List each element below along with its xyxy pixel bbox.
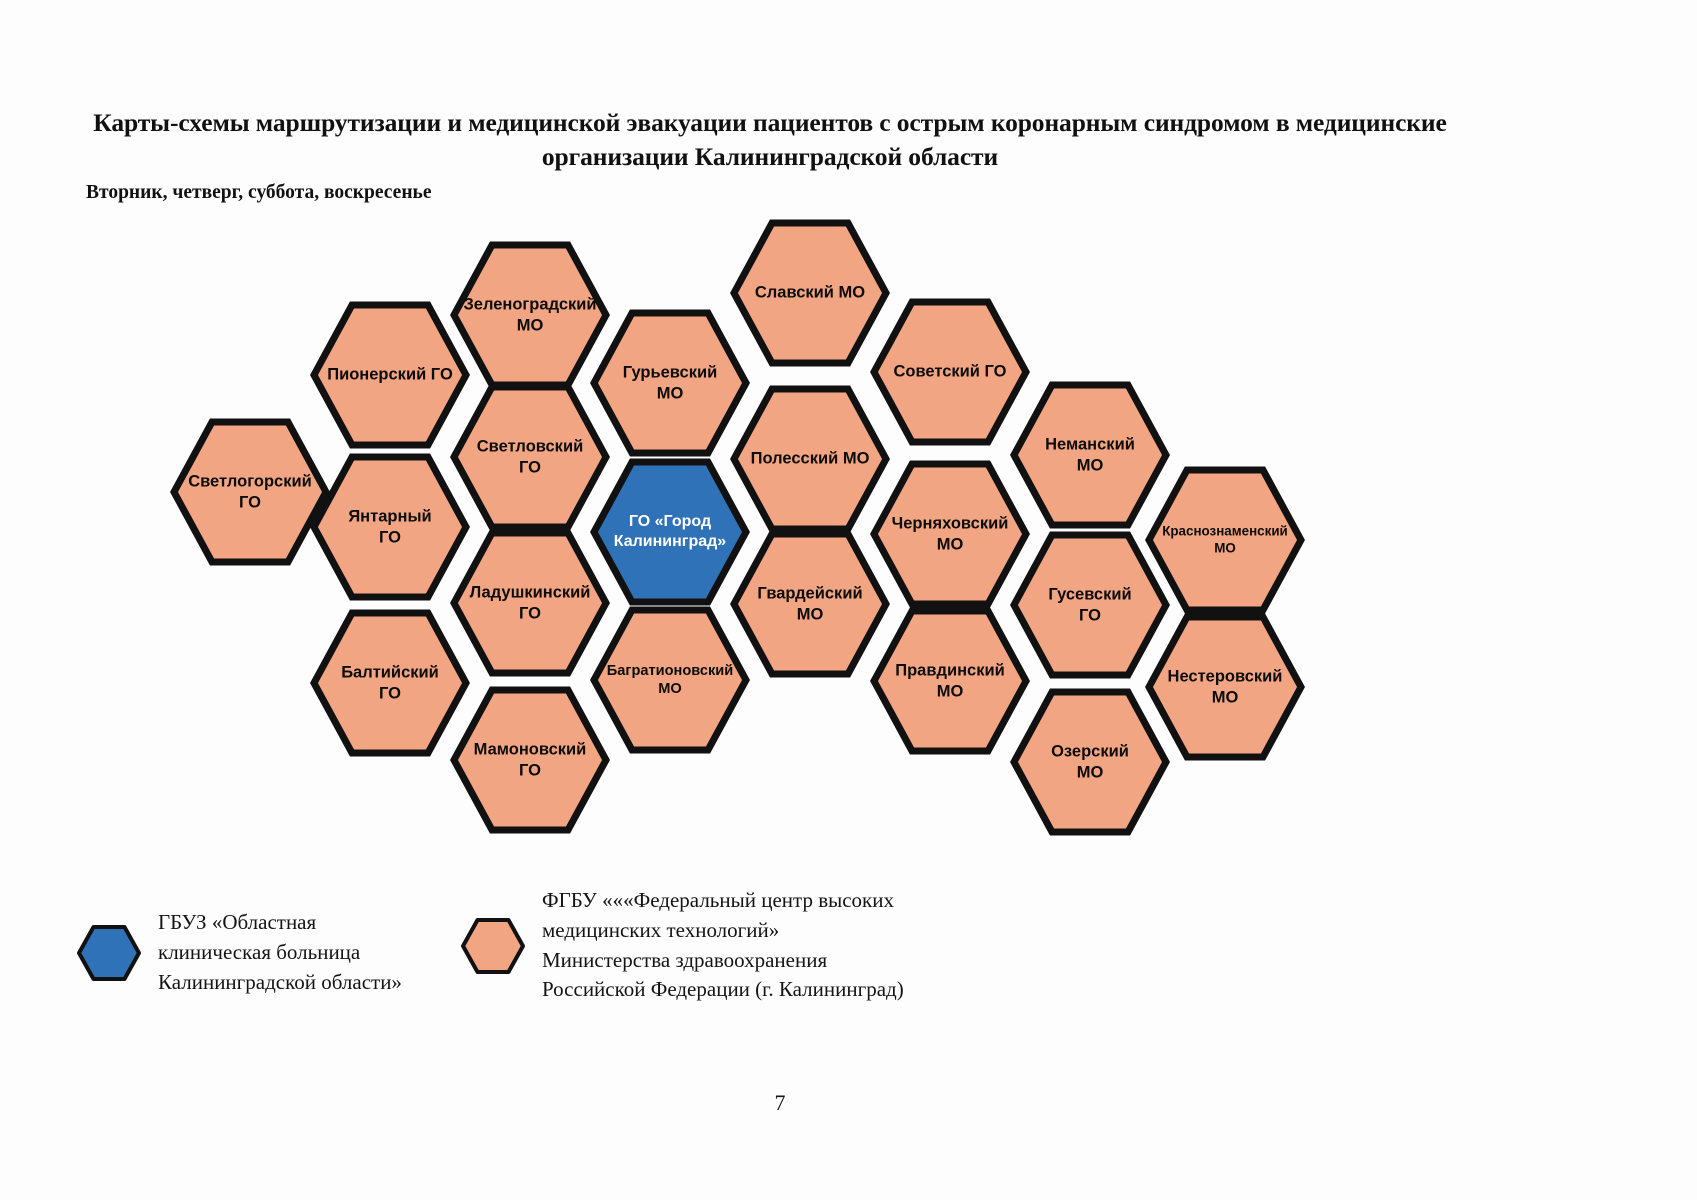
- hex-nesterovsky[interactable]: Нестеровский МО: [1145, 612, 1305, 762]
- hex-shape-pionersky-icon: [310, 300, 470, 450]
- hex-baltiysky[interactable]: Балтийский ГО: [310, 608, 470, 758]
- hex-shape-zelenogradsky-icon: [450, 240, 610, 390]
- hex-shape-pravdinsky-icon: [870, 606, 1030, 756]
- hex-shape-chernyakhovsky-icon: [870, 459, 1030, 609]
- hex-polessky[interactable]: Полесский МО: [730, 384, 890, 534]
- hex-shape-mamonovsky-icon: [450, 685, 610, 835]
- legend-item-federal-center: ФГБУ «««Федеральный центр высоких медици…: [462, 886, 904, 1005]
- hex-kaliningrad[interactable]: ГО «Город Калининград»: [590, 457, 750, 607]
- hex-shape-polessky-icon: [730, 384, 890, 534]
- hex-shape-sovetsky-icon: [870, 297, 1030, 447]
- map-legend: ГБУЗ «Областная клиническая больница Кал…: [0, 880, 1697, 1020]
- hex-chernyakhovsky[interactable]: Черняховский МО: [870, 459, 1030, 609]
- hex-shape-guryevsky-icon: [590, 308, 750, 458]
- page-number: 7: [0, 1090, 1560, 1116]
- hex-ladushkinsky[interactable]: Ладушкинский ГО: [450, 528, 610, 678]
- hex-shape-nesterovsky-icon: [1145, 612, 1305, 762]
- document-page: Карты-схемы маршрутизации и медицинской …: [0, 0, 1697, 1200]
- hex-bagrationovsky[interactable]: Багратионовский МО: [590, 605, 750, 755]
- hex-shape-krasnoznamensky-icon: [1145, 465, 1305, 615]
- hex-mamonovsky[interactable]: Мамоновский ГО: [450, 685, 610, 835]
- hex-shape-baltiysky-icon: [310, 608, 470, 758]
- hex-shape-gvardeysky-icon: [730, 529, 890, 679]
- hex-zelenogradsky[interactable]: Зеленоградский МО: [450, 240, 610, 390]
- legend-item-regional-hospital: ГБУЗ «Областная клиническая больница Кал…: [78, 908, 402, 997]
- hex-slavsky[interactable]: Славский МО: [730, 218, 890, 368]
- hex-shape-kaliningrad-icon: [590, 457, 750, 607]
- hex-yantarny[interactable]: Янтарный ГО: [310, 452, 470, 602]
- hex-shape-svetlovsky-icon: [450, 382, 610, 532]
- hex-shape-yantarny-icon: [310, 452, 470, 602]
- hex-svetlogorsky[interactable]: Светлогорский ГО: [170, 417, 330, 567]
- hex-krasnoznamensky[interactable]: Краснознаменский МО: [1145, 465, 1305, 615]
- hex-sovetsky[interactable]: Советский ГО: [870, 297, 1030, 447]
- hex-gvardeysky[interactable]: Гвардейский МО: [730, 529, 890, 679]
- hex-guryevsky[interactable]: Гурьевский МО: [590, 308, 750, 458]
- legend-swatch-blue-hexagon-icon: [78, 924, 140, 982]
- hex-shape-bagrationovsky-icon: [590, 605, 750, 755]
- hex-shape-ladushkinsky-icon: [450, 528, 610, 678]
- legend-label-federal-center: ФГБУ «««Федеральный центр высоких медици…: [542, 886, 904, 1005]
- legend-swatch-orange-hexagon-icon: [462, 917, 524, 975]
- hex-pravdinsky[interactable]: Правдинский МО: [870, 606, 1030, 756]
- hexagon-map: Светлогорский ГОПионерский ГОЯнтарный ГО…: [0, 0, 1697, 880]
- hex-pionersky[interactable]: Пионерский ГО: [310, 300, 470, 450]
- hex-shape-slavsky-icon: [730, 218, 890, 368]
- hex-svetlovsky[interactable]: Светловский ГО: [450, 382, 610, 532]
- legend-label-regional-hospital: ГБУЗ «Областная клиническая больница Кал…: [158, 908, 402, 997]
- hex-shape-svetlogorsky-icon: [170, 417, 330, 567]
